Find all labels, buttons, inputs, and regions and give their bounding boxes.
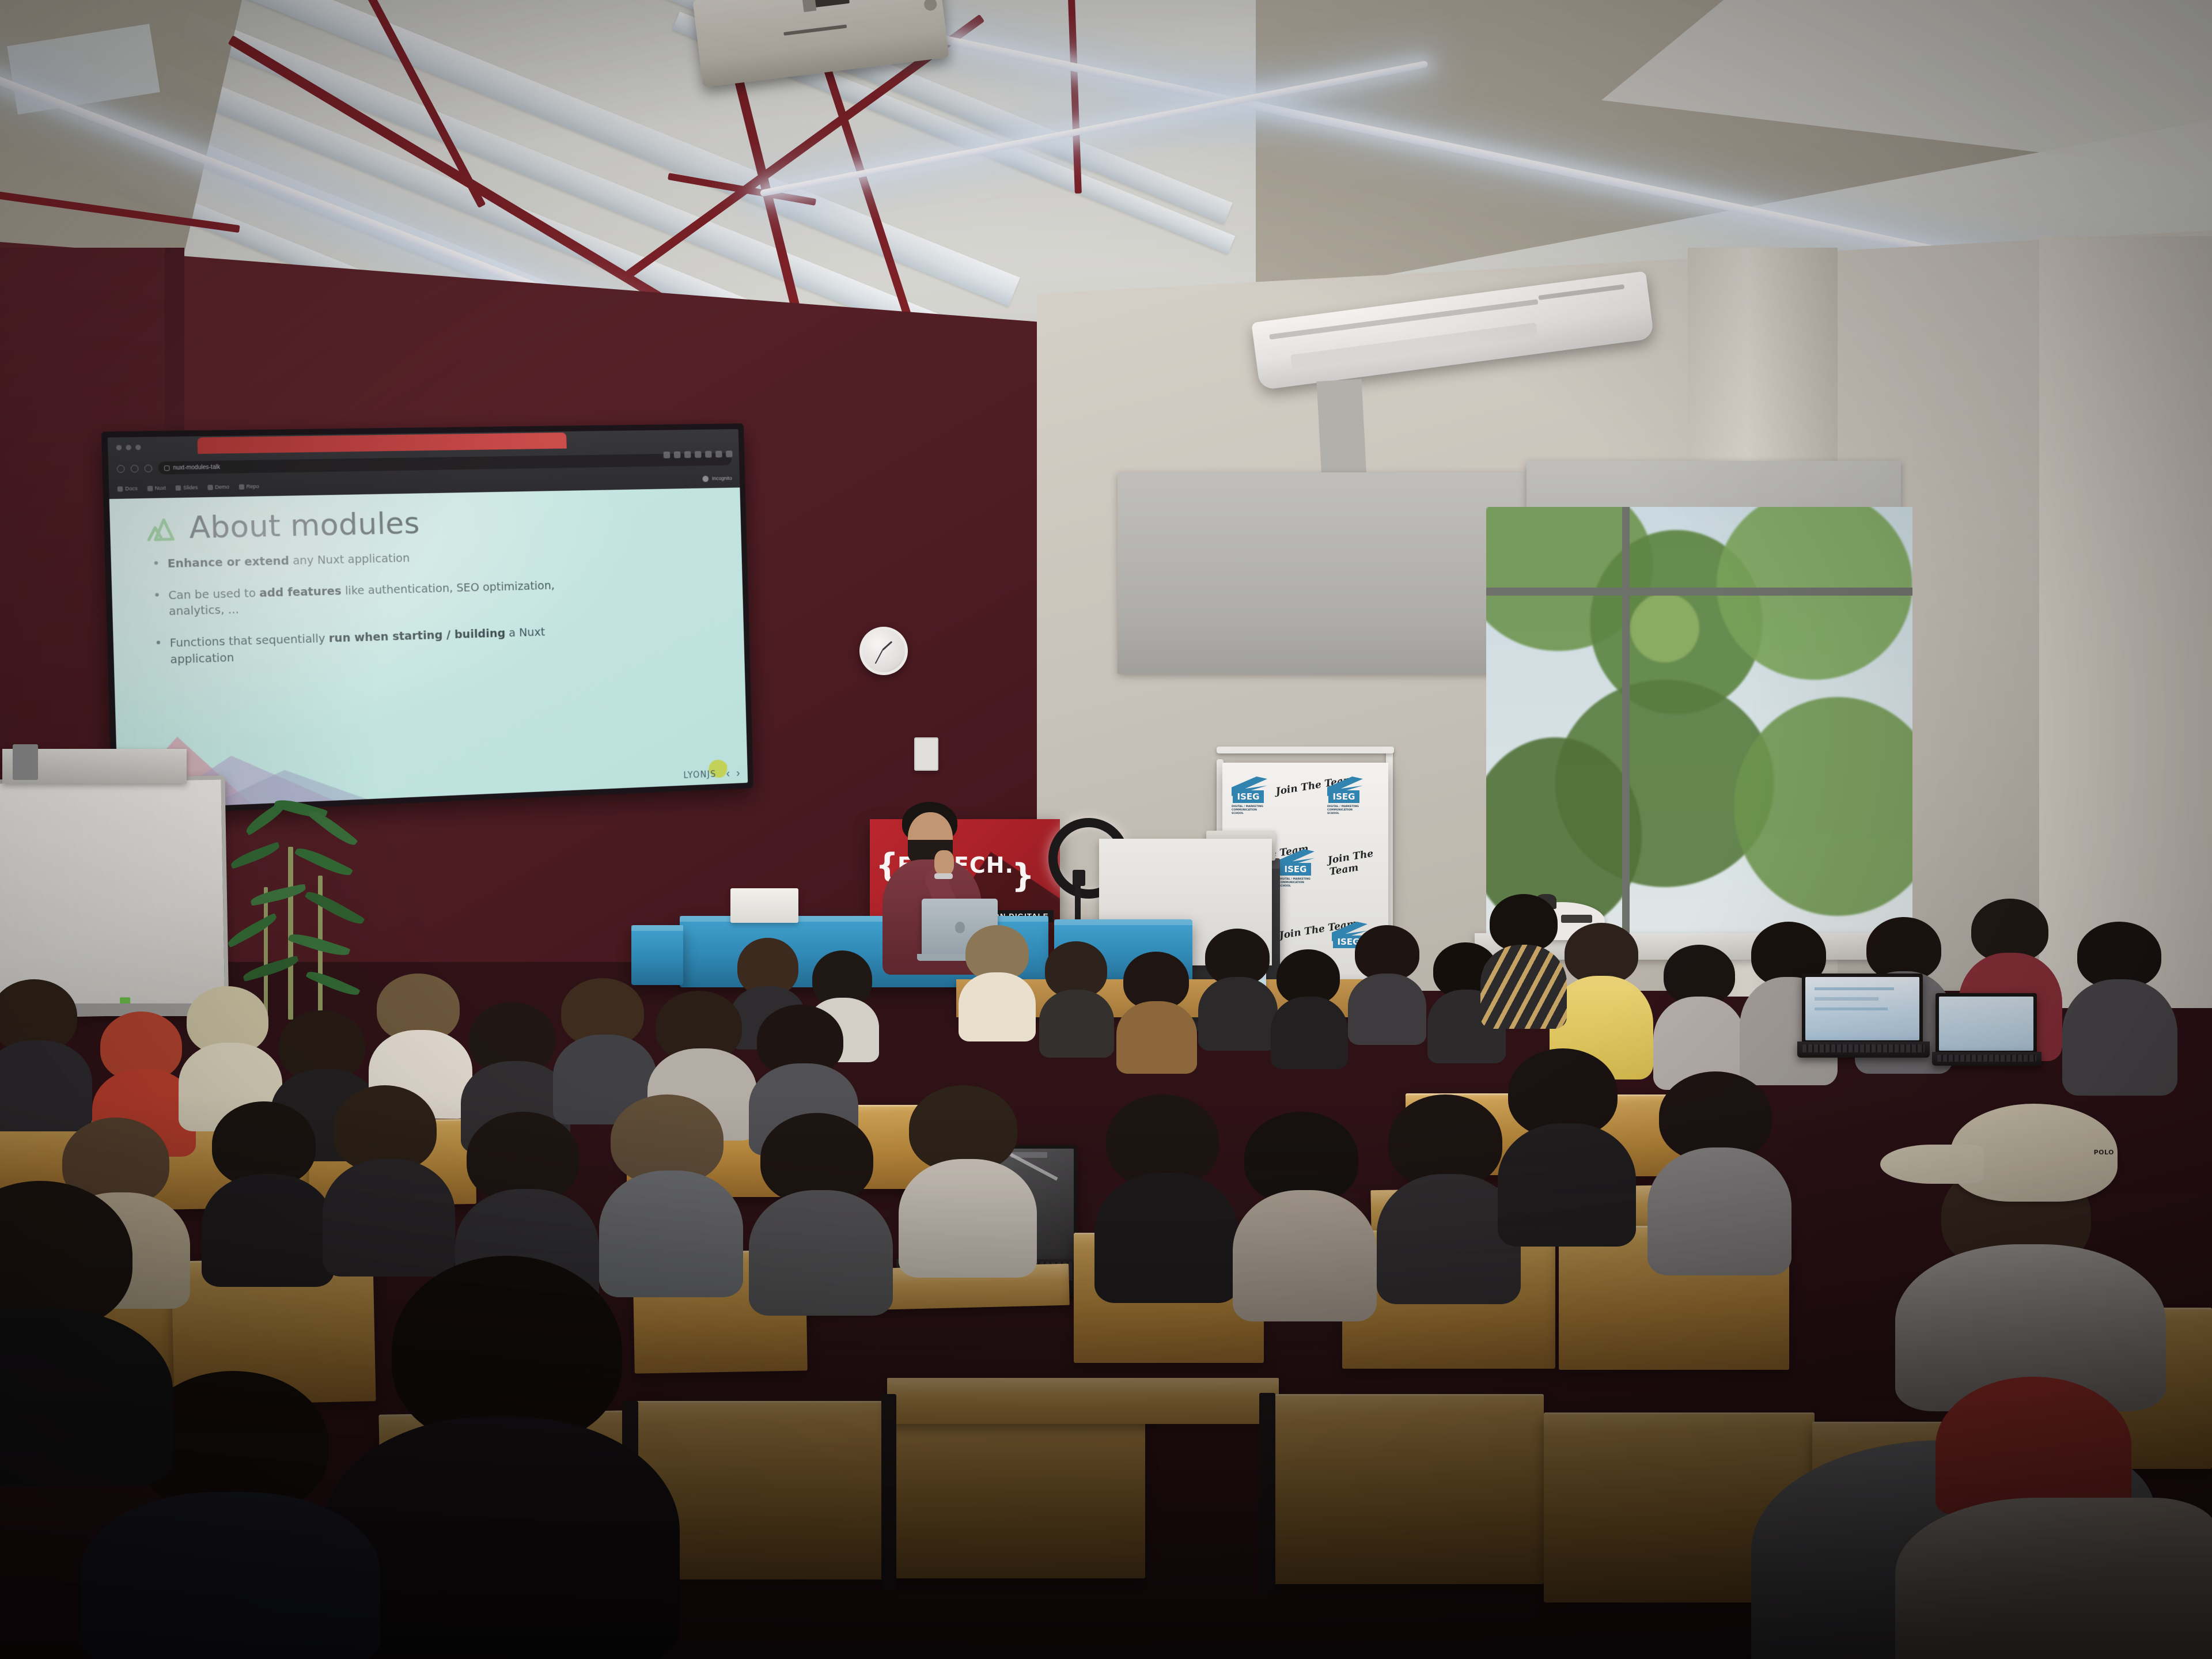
bookmark-item[interactable]: Repo: [238, 483, 259, 490]
baseball-cap: POLO: [1950, 1104, 2118, 1202]
audience-laptop[interactable]: [1935, 993, 2045, 1068]
iseg-logo-subtitle: DIGITAL / MARKETING COMMUNICATION SCHOOL: [1327, 805, 1363, 816]
lecture-hall-photo: nuxt-modules-talk Docs Nuxt: [0, 0, 2212, 1659]
window-zoom-dot[interactable]: [135, 444, 141, 449]
seat-frame: [1259, 1393, 1275, 1594]
bullet-text: Functions that sequentially: [169, 632, 329, 650]
iseg-logo: ISEG: [1233, 790, 1264, 803]
slide-navigation: ‹ ›: [726, 767, 740, 779]
slide-footer: LYONJS ‹ ›: [683, 767, 740, 781]
browser-extensions: [664, 450, 733, 459]
audience-member: [1348, 925, 1426, 1044]
bookmark-icon: [207, 484, 213, 490]
reload-icon[interactable]: [145, 464, 153, 472]
bookmark-icon: [147, 486, 153, 491]
bookmark-item[interactable]: Docs: [118, 486, 138, 492]
bookmark-icon: [176, 485, 181, 490]
wall-clock: [859, 627, 908, 675]
speaker-box: [13, 744, 38, 780]
audience-member: [1233, 1112, 1377, 1319]
presentation-slide: About modules Enhance or extend any Nuxt…: [109, 487, 748, 810]
bullet-bold: add features: [259, 584, 342, 600]
extension-icon[interactable]: [695, 451, 702, 458]
extension-icon[interactable]: [715, 450, 722, 457]
bookmark-item[interactable]: Demo: [207, 484, 229, 490]
extension-icon[interactable]: [684, 451, 691, 458]
foreground-audience-member: [0, 1181, 173, 1480]
lyonjs-logo: LYONJS: [683, 769, 717, 781]
slide-viewport: About modules Enhance or extend any Nuxt…: [109, 487, 748, 810]
bookmark-icon: [238, 484, 244, 489]
audience-member: [1039, 941, 1114, 1056]
seat-frame: [881, 1394, 896, 1590]
audience-member: [1094, 1094, 1238, 1302]
slide-bullet-list: Enhance or extend any Nuxt application C…: [145, 543, 719, 669]
extension-icon[interactable]: [726, 450, 733, 457]
paper-stack: [730, 888, 798, 923]
profile-avatar-icon: [703, 475, 709, 482]
wall-column-right: [2039, 236, 2212, 1008]
whiteboard-magnet[interactable]: [120, 997, 130, 1003]
wall-switch[interactable]: [914, 737, 938, 771]
roof-truss: [1068, 0, 1082, 194]
bookmark-item[interactable]: Nuxt: [147, 485, 166, 491]
forward-icon[interactable]: [131, 464, 139, 472]
address-bar-value: nuxt-modules-talk: [173, 464, 220, 471]
audience-member: [1271, 949, 1348, 1068]
audience-member: [323, 1085, 455, 1275]
iseg-logo: ISEG: [1280, 863, 1311, 876]
slide-header: About modules: [143, 503, 716, 544]
audience-member: [0, 979, 92, 1129]
browser-chrome: nuxt-modules-talk Docs Nuxt: [108, 429, 740, 499]
audience-laptop[interactable]: [1802, 974, 1934, 1060]
audience-member: [1498, 1048, 1636, 1244]
row-desk: [887, 1378, 1279, 1424]
stage-desk: [631, 925, 683, 985]
audience-member: [2062, 922, 2177, 1094]
nuxt-logo: [143, 516, 180, 542]
bullet-text: any Nuxt application: [289, 551, 410, 567]
seat-back: [1273, 1394, 1544, 1584]
audience-member: [749, 1113, 893, 1315]
audience-member: [959, 925, 1036, 1040]
window: [1486, 507, 1912, 945]
extension-icon[interactable]: [705, 451, 712, 458]
back-icon[interactable]: [117, 465, 125, 473]
red-jacket: [1935, 1377, 2131, 1515]
slide-bullet: Enhance or extend any Nuxt application: [151, 547, 572, 573]
browser-window[interactable]: nuxt-modules-talk Docs Nuxt: [108, 429, 748, 810]
audience-member: [1116, 952, 1197, 1073]
slide-bullet: Functions that sequentially run when sta…: [154, 623, 574, 668]
audience-member: [1653, 945, 1745, 1089]
bullet-bold: run when starting / building: [328, 627, 505, 645]
profile-chip[interactable]: Incognito: [703, 475, 732, 482]
audience-member: [1647, 1071, 1791, 1273]
audience-member: [1480, 894, 1567, 1027]
bullet-bold: Enhance or extend: [167, 554, 289, 570]
foreground-audience-member: [1895, 1498, 2212, 1659]
slide-title: About modules: [189, 508, 421, 543]
slide-bullet: Can be used to add features like authent…: [153, 577, 573, 620]
iseg-logo-subtitle: DIGITAL / MARKETING COMMUNICATION SCHOOL: [1279, 878, 1315, 888]
extension-icon[interactable]: [674, 452, 681, 459]
audience-member: [1198, 929, 1278, 1050]
audience-member: [899, 1085, 1037, 1275]
audience-member-with-cap: POLO: [1895, 1083, 2166, 1406]
join-the-team-script: Join The Team: [1327, 846, 1388, 878]
audience-member: [202, 1101, 334, 1286]
cap-brand-label: POLO: [2094, 1149, 2114, 1156]
bullet-text: like authentication, SEO optimization, a…: [169, 578, 555, 618]
extension-icon[interactable]: [664, 452, 671, 459]
lock-icon: [164, 465, 170, 471]
window-close-dot[interactable]: [116, 445, 122, 450]
bullet-text: Can be used to: [168, 586, 260, 602]
window-blind[interactable]: [1118, 472, 1527, 674]
bookmark-icon: [118, 486, 123, 491]
speaker-hand: [934, 850, 954, 876]
lyonjs-label: LYONJS: [683, 769, 717, 781]
brace-close: }: [1012, 857, 1035, 895]
bookmark-item[interactable]: Slides: [176, 484, 198, 491]
window-minimize-dot[interactable]: [126, 445, 131, 450]
iseg-logo-subtitle: DIGITAL / MARKETING COMMUNICATION SCHOOL: [1232, 805, 1267, 816]
next-slide-arrow[interactable]: ›: [736, 767, 740, 779]
speaker-watch: [934, 873, 953, 879]
iseg-logo: ISEG: [1328, 790, 1359, 803]
projection-screen: nuxt-modules-talk Docs Nuxt: [101, 423, 753, 816]
banner-crossbar: [1217, 747, 1394, 753]
